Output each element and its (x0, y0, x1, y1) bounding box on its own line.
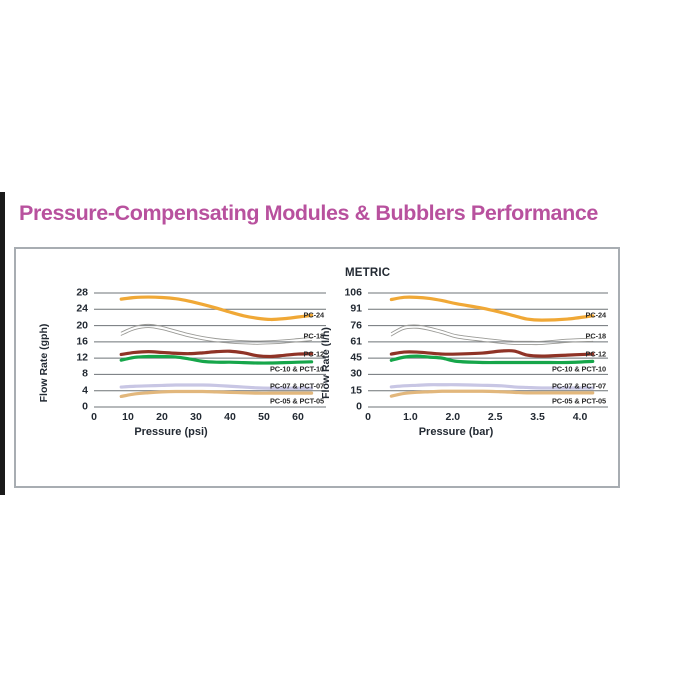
y-tick-label: 61 (328, 336, 362, 347)
series-label: PC-07 & PCT-07 (270, 381, 324, 390)
y-tick-label: 8 (54, 369, 88, 380)
chart-metric-units: Flow Rate (l/h) 0153045617691106 01.02.0… (320, 293, 592, 453)
x-axis-title-us: Pressure (psi) (38, 426, 304, 438)
x-tick-label: 1.0 (403, 411, 418, 423)
y-tick-label: 16 (54, 336, 88, 347)
left-accent-bar (0, 192, 5, 495)
y-tick-label: 76 (328, 320, 362, 331)
series-label: PC-10 & PCT-10 (552, 365, 606, 374)
y-tick-label: 20 (54, 320, 88, 331)
y-axis-ticks-us: 0481216202428 (54, 293, 88, 407)
x-tick-label: 20 (156, 411, 168, 423)
y-tick-label: 106 (328, 288, 362, 299)
x-tick-label: 0 (91, 411, 97, 423)
x-tick-label: 10 (122, 411, 134, 423)
y-tick-label: 45 (328, 353, 362, 364)
metric-section-heading: METRIC (345, 267, 390, 279)
series-line (391, 356, 592, 362)
x-tick-label: 3.5 (530, 411, 545, 423)
series-label: PC-05 & PCT-05 (552, 397, 606, 406)
y-tick-label: 24 (54, 304, 88, 315)
x-tick-label: 4.0 (573, 411, 588, 423)
chart-us-units: Flow Rate (gph) 0481216202428 0102030405… (38, 293, 304, 453)
y-tick-label: 12 (54, 353, 88, 364)
x-tick-label: 2.0 (445, 411, 460, 423)
y-axis-title-us: Flow Rate (gph) (38, 311, 52, 415)
x-tick-label: 30 (190, 411, 202, 423)
series-label: PC-07 & PCT-07 (552, 381, 606, 390)
x-tick-label: 0 (365, 411, 371, 423)
y-axis-ticks-metric: 0153045617691106 (328, 293, 362, 407)
x-tick-label: 50 (258, 411, 270, 423)
y-tick-label: 28 (54, 288, 88, 299)
y-tick-label: 91 (328, 304, 362, 315)
series-label: PC-24 (586, 310, 606, 319)
y-tick-label: 4 (54, 385, 88, 396)
series-line (121, 297, 311, 319)
series-label: PC-10 & PCT-10 (270, 365, 324, 374)
series-label: PC-18 (586, 332, 606, 341)
plot-area-metric: 01.02.02.53.54.0PC-24PC-18PC-12PC-10 & P… (368, 293, 580, 407)
series-line (391, 391, 592, 396)
series-line (121, 356, 311, 363)
x-tick-label: 60 (292, 411, 304, 423)
plot-area-us: 0102030405060PC-24PC-18PC-12PC-10 & PCT-… (94, 293, 298, 407)
y-tick-label: 0 (328, 402, 362, 413)
series-label: PC-12 (586, 349, 606, 358)
page-title: Pressure-Compensating Modules & Bubblers… (19, 199, 700, 227)
series-line (391, 325, 592, 341)
series-line (121, 324, 311, 341)
series-label: PC-05 & PCT-05 (270, 396, 324, 405)
x-axis-title-metric: Pressure (bar) (320, 426, 592, 438)
x-tick-label: 40 (224, 411, 236, 423)
y-tick-label: 15 (328, 385, 362, 396)
x-tick-label: 2.5 (488, 411, 503, 423)
y-tick-label: 30 (328, 369, 362, 380)
y-tick-label: 0 (54, 402, 88, 413)
series-line (391, 297, 592, 320)
